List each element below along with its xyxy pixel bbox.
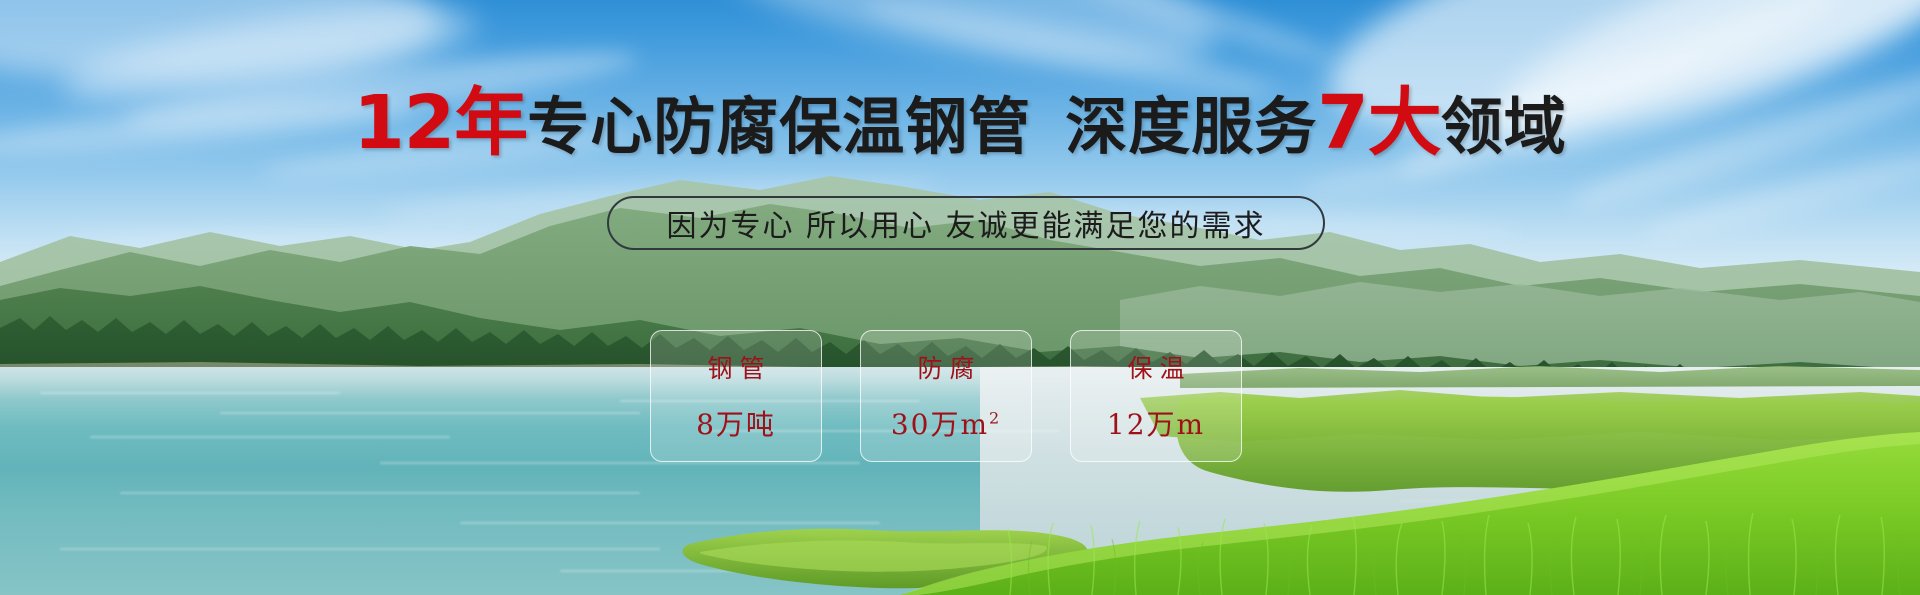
stat-card-insulation[interactable]: 保温 12万m [1070, 330, 1242, 462]
stat-value: 30万m2 [891, 403, 1001, 443]
stat-value-superscript: 2 [989, 409, 1001, 428]
headline-years: 12年 [353, 80, 527, 166]
headline-focus: 专心防腐保温钢管 [527, 90, 1031, 163]
stat-value-text: 30万m [891, 408, 989, 441]
hero-banner: 12年专心防腐保温钢管深度服务7大领域 因为专心 所以用心 友诚更能满足您的需求… [0, 0, 1920, 595]
stat-title: 防腐 [910, 349, 981, 385]
stat-value: 12万m [1107, 403, 1205, 443]
stat-value: 8万吨 [696, 403, 776, 443]
stat-value-text: 12万m [1107, 408, 1205, 441]
banner-headline: 12年专心防腐保温钢管深度服务7大领域 [0, 86, 1920, 160]
stat-title: 保温 [1120, 349, 1191, 385]
stat-card-group: 钢管 8万吨 防腐 30万m2 保温 12万m [650, 330, 1242, 462]
banner-content: 12年专心防腐保温钢管深度服务7大领域 因为专心 所以用心 友诚更能满足您的需求… [0, 0, 1920, 595]
stat-card-steel-pipe[interactable]: 钢管 8万吨 [650, 330, 822, 462]
headline-seven: 7大 [1317, 80, 1441, 166]
subtitle-text: 因为专心 所以用心 友诚更能满足您的需求 [666, 201, 1265, 245]
subtitle-pill: 因为专心 所以用心 友诚更能满足您的需求 [607, 196, 1325, 250]
headline-fields: 领域 [1441, 90, 1567, 163]
stat-card-anticorrosion[interactable]: 防腐 30万m2 [860, 330, 1032, 462]
stat-title: 钢管 [700, 349, 771, 385]
headline-service: 深度服务 [1065, 90, 1317, 163]
stat-value-text: 8万吨 [696, 408, 776, 441]
